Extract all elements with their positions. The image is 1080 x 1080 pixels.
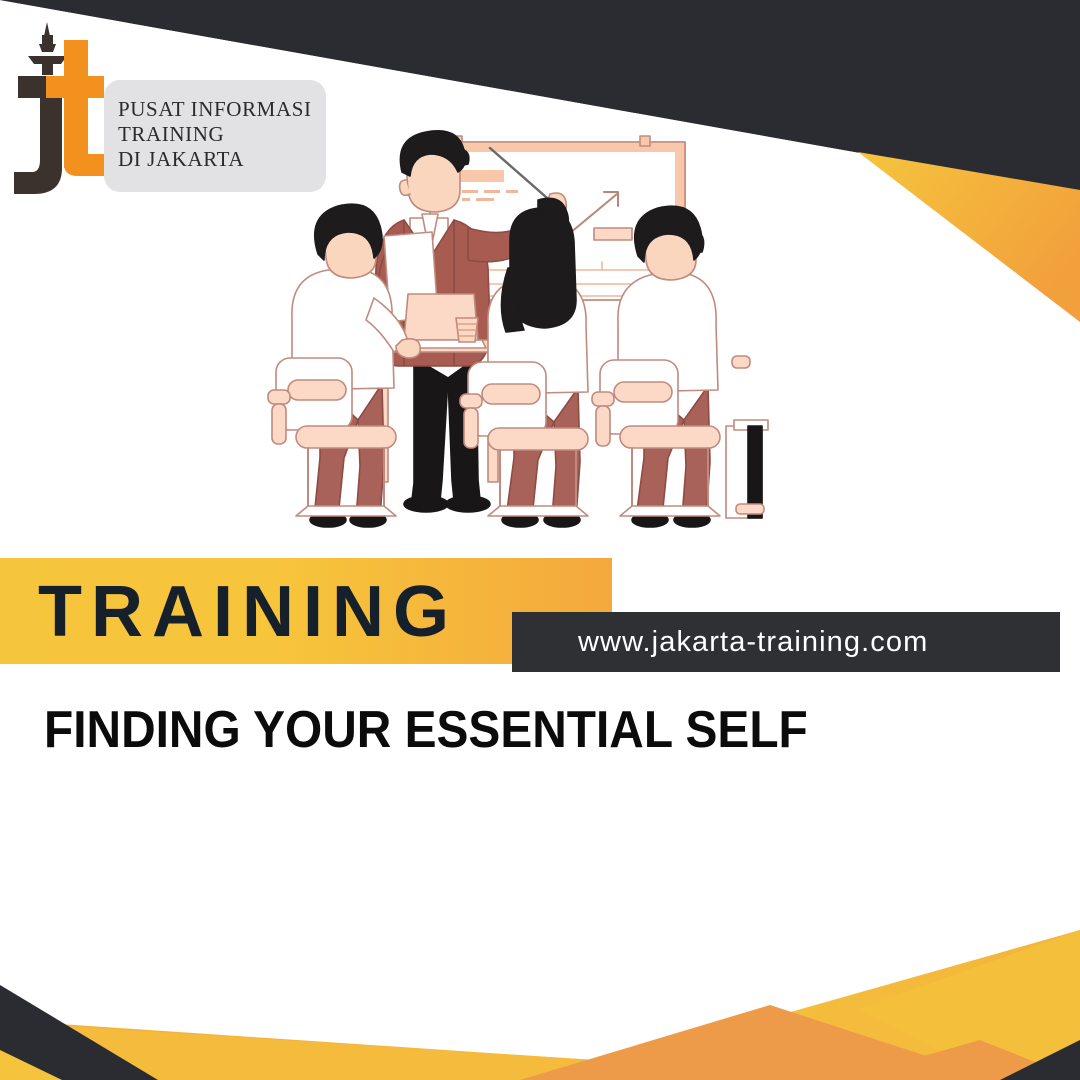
tagline-line-1: PUSAT INFORMASI <box>118 97 328 122</box>
monas-monument-icon <box>28 22 67 75</box>
tagline-line-3: DI JAKARTA <box>118 147 328 172</box>
training-title: TRAINING <box>38 567 458 657</box>
logo-tagline-text: PUSAT INFORMASI TRAINING DI JAKARTA <box>118 97 328 172</box>
jt-logo-mark <box>6 18 106 198</box>
website-url-text[interactable]: www.jakarta-training.com <box>578 612 1048 672</box>
tagline-line-2: TRAINING <box>118 122 328 147</box>
side-bin <box>726 420 768 518</box>
coffee-cup <box>456 318 478 342</box>
brand-logo[interactable]: PUSAT INFORMASI TRAINING DI JAKARTA <box>6 18 336 198</box>
course-subtitle: FINDING YOUR ESSENTIAL SELF <box>44 700 808 760</box>
flyer-canvas: PUSAT INFORMASI TRAINING DI JAKARTA <box>0 0 1080 1080</box>
classroom-training-illustration <box>262 128 802 528</box>
